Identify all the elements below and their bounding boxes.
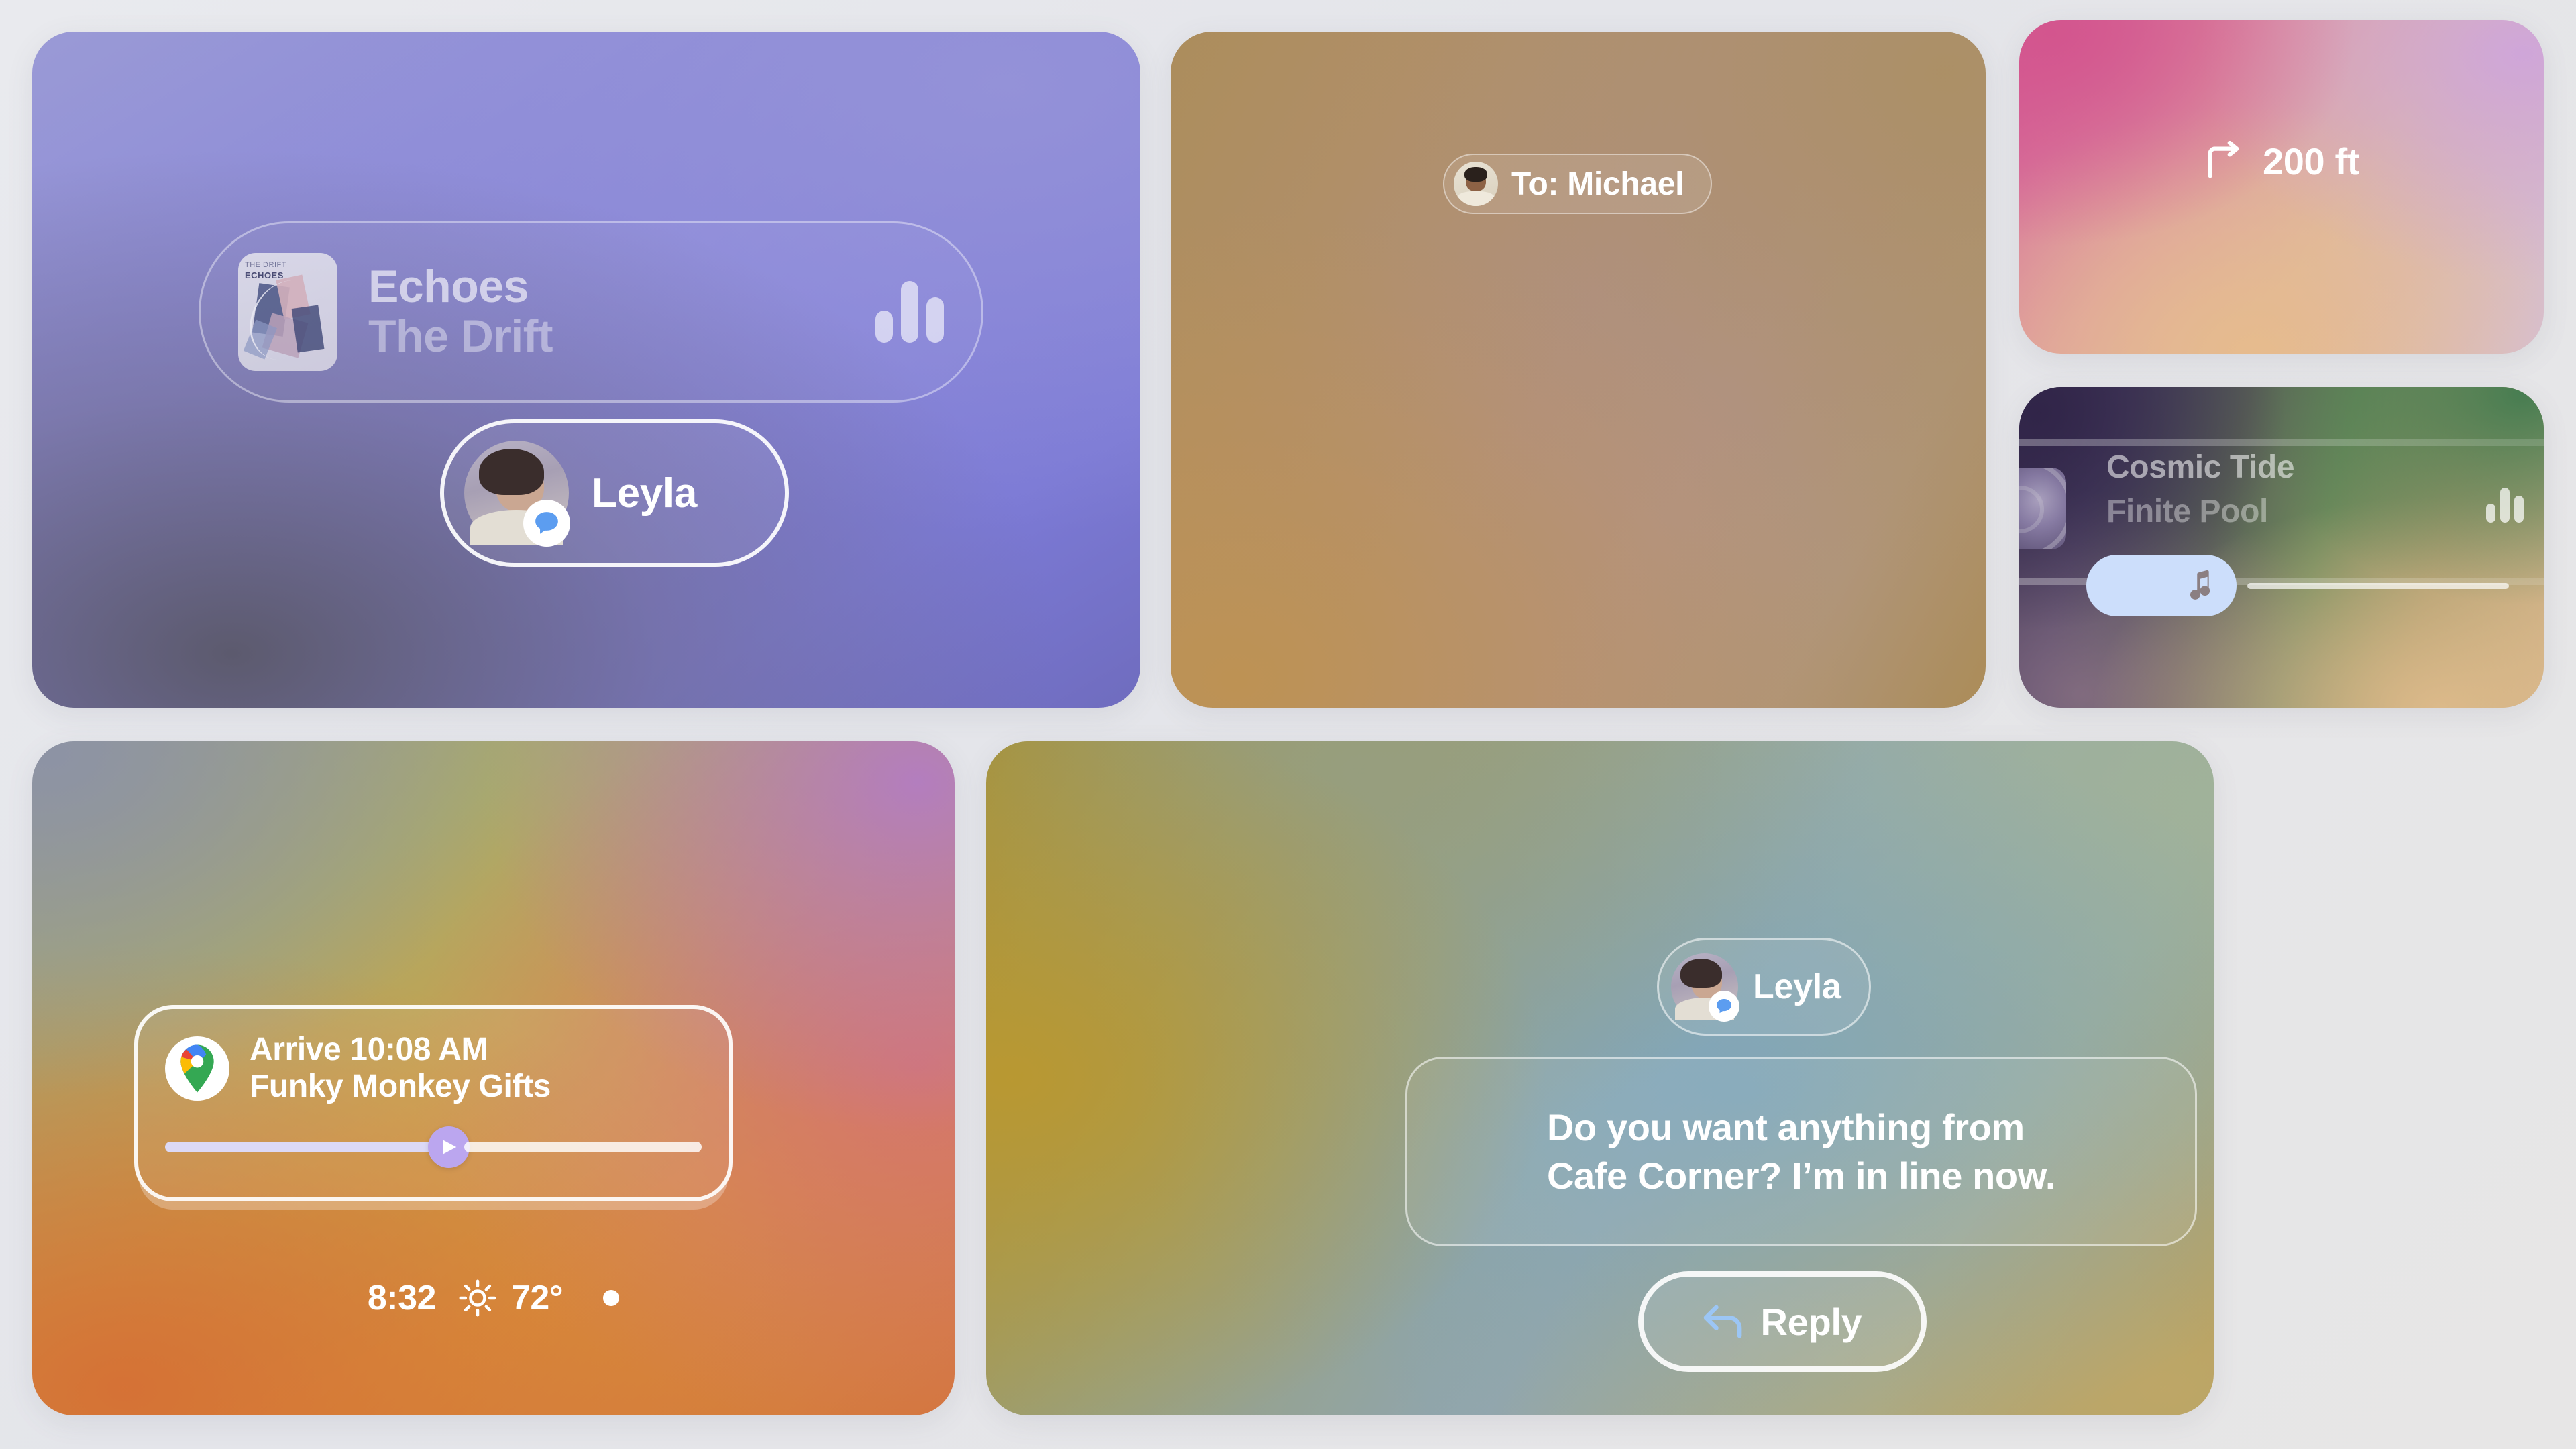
card-quick-replies[interactable]: To: Michael I’d love a cappuccino No tha… bbox=[1171, 32, 1986, 708]
reply-button-label: Reply bbox=[1761, 1300, 1862, 1344]
music-note-icon bbox=[2184, 569, 2214, 602]
status-temperature: 72° bbox=[511, 1278, 563, 1318]
card-incoming-message[interactable]: Leyla Do you want anything from Cafe Cor… bbox=[986, 741, 2214, 1415]
caller-chip-leyla[interactable]: Leyla bbox=[440, 419, 789, 567]
message-sender-name: Leyla bbox=[1753, 967, 1841, 1007]
arrival-panel[interactable]: Arrive 10:08 AM Funky Monkey Gifts bbox=[134, 1005, 733, 1201]
track-artist: Finite Pool bbox=[2106, 493, 2268, 530]
decorative-band bbox=[2019, 439, 2544, 446]
status-bar: 8:32 72° bbox=[32, 1278, 955, 1318]
album-art-line1: THE DRIFT bbox=[245, 261, 286, 269]
sun-icon bbox=[459, 1279, 496, 1317]
card-maps-navigation[interactable]: Arrive 10:08 AM Funky Monkey Gifts 8:32 … bbox=[32, 741, 955, 1415]
route-progress-fill bbox=[165, 1142, 433, 1152]
album-art bbox=[2019, 468, 2066, 549]
equalizer-icon bbox=[2486, 488, 2524, 523]
album-art: THE DRIFT ECHOES bbox=[238, 253, 337, 371]
arrival-destination: Funky Monkey Gifts bbox=[250, 1068, 551, 1106]
avatar bbox=[1671, 953, 1738, 1020]
caller-name: Leyla bbox=[592, 470, 697, 517]
volume-slider[interactable] bbox=[2086, 555, 2509, 616]
avatar bbox=[464, 441, 569, 545]
message-body-line1: Do you want anything from bbox=[1547, 1106, 2025, 1148]
messages-badge-icon bbox=[1709, 991, 1739, 1022]
volume-slider-track[interactable] bbox=[2247, 583, 2509, 589]
volume-slider-fill[interactable] bbox=[2086, 555, 2237, 616]
turn-right-icon bbox=[2204, 141, 2245, 182]
route-progress-track bbox=[464, 1142, 702, 1152]
recipient-chip[interactable]: To: Michael bbox=[1443, 154, 1712, 214]
recipient-label: To: Michael bbox=[1511, 166, 1684, 203]
route-progress-slider[interactable] bbox=[165, 1132, 702, 1163]
status-time: 8:32 bbox=[368, 1278, 436, 1318]
navigation-instruction: 200 ft bbox=[2019, 140, 2544, 183]
track-title: Echoes bbox=[368, 263, 553, 311]
message-bubble[interactable]: Do you want anything from Cafe Corner? I… bbox=[1405, 1057, 2197, 1246]
reply-button[interactable]: Reply bbox=[1638, 1271, 1927, 1372]
message-body: Do you want anything from Cafe Corner? I… bbox=[1547, 1104, 2055, 1199]
message-sender-chip[interactable]: Leyla bbox=[1657, 938, 1871, 1036]
now-playing-pill[interactable]: THE DRIFT ECHOES Echoes The Drift bbox=[199, 221, 983, 402]
card-now-playing[interactable]: THE DRIFT ECHOES Echoes The Drift bbox=[32, 32, 1140, 708]
avatar bbox=[1454, 162, 1498, 206]
arrival-eta: Arrive 10:08 AM bbox=[250, 1032, 551, 1068]
navigation-distance: 200 ft bbox=[2263, 140, 2359, 183]
arrival-text: Arrive 10:08 AM Funky Monkey Gifts bbox=[250, 1032, 551, 1105]
card-music-cosmic-tide[interactable]: Cosmic Tide Finite Pool bbox=[2019, 387, 2544, 708]
message-body-line2: Cafe Corner? I’m in line now. bbox=[1547, 1155, 2055, 1197]
navigation-arrow-icon[interactable] bbox=[428, 1126, 470, 1168]
track-title: Cosmic Tide bbox=[2106, 449, 2294, 486]
arrival-header: Arrive 10:08 AM Funky Monkey Gifts bbox=[165, 1032, 702, 1105]
track-artist: The Drift bbox=[368, 312, 553, 361]
card-navigation[interactable]: 200 ft bbox=[2019, 20, 2544, 354]
reply-arrow-icon bbox=[1703, 1305, 1745, 1338]
card-background-wash bbox=[2019, 387, 2544, 708]
dashboard-root: THE DRIFT ECHOES Echoes The Drift bbox=[0, 0, 2576, 1449]
status-dot bbox=[603, 1290, 619, 1306]
equalizer-icon bbox=[875, 281, 944, 343]
maps-pin-icon bbox=[165, 1036, 229, 1101]
now-playing-meta: Echoes The Drift bbox=[368, 263, 553, 361]
messages-badge-icon bbox=[523, 500, 570, 547]
album-art-line2: ECHOES bbox=[245, 270, 284, 280]
